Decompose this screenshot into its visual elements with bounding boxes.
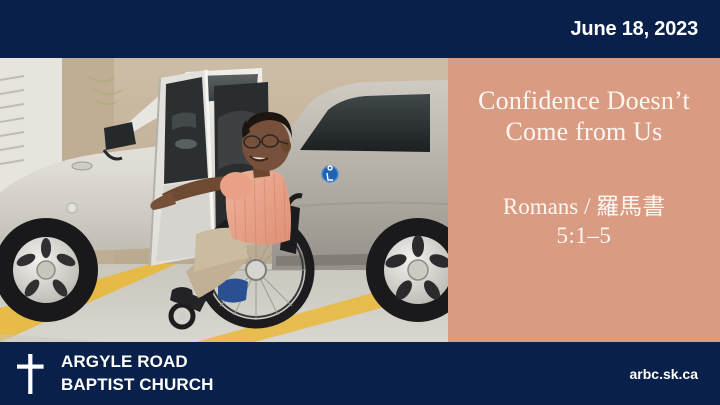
sermon-title-slide: June 18, 2023 (0, 0, 720, 405)
church-name-line2: BAPTIST CHURCH (61, 374, 214, 396)
footer-band: ARGYLE ROAD BAPTIST CHURCH arbc.sk.ca (0, 342, 720, 405)
header-band: June 18, 2023 (0, 0, 720, 58)
sermon-date: June 18, 2023 (571, 18, 699, 41)
wheelchair-car-transfer-photo (0, 58, 448, 342)
church-name: ARGYLE ROAD BAPTIST CHURCH (61, 351, 214, 395)
title-panel: Confidence Doesn’t Come from Us Romans /… (448, 58, 720, 342)
scripture-reference: Romans / 羅馬書 (495, 193, 673, 222)
sermon-title: Confidence Doesn’t Come from Us (448, 86, 720, 147)
website-url[interactable]: arbc.sk.ca (630, 366, 720, 382)
church-brand: ARGYLE ROAD BAPTIST CHURCH (0, 351, 630, 395)
church-name-line1: ARGYLE ROAD (61, 351, 214, 373)
scripture-verse: 5:1–5 (557, 222, 612, 251)
cross-icon (14, 352, 48, 396)
sermon-photo (0, 58, 448, 342)
